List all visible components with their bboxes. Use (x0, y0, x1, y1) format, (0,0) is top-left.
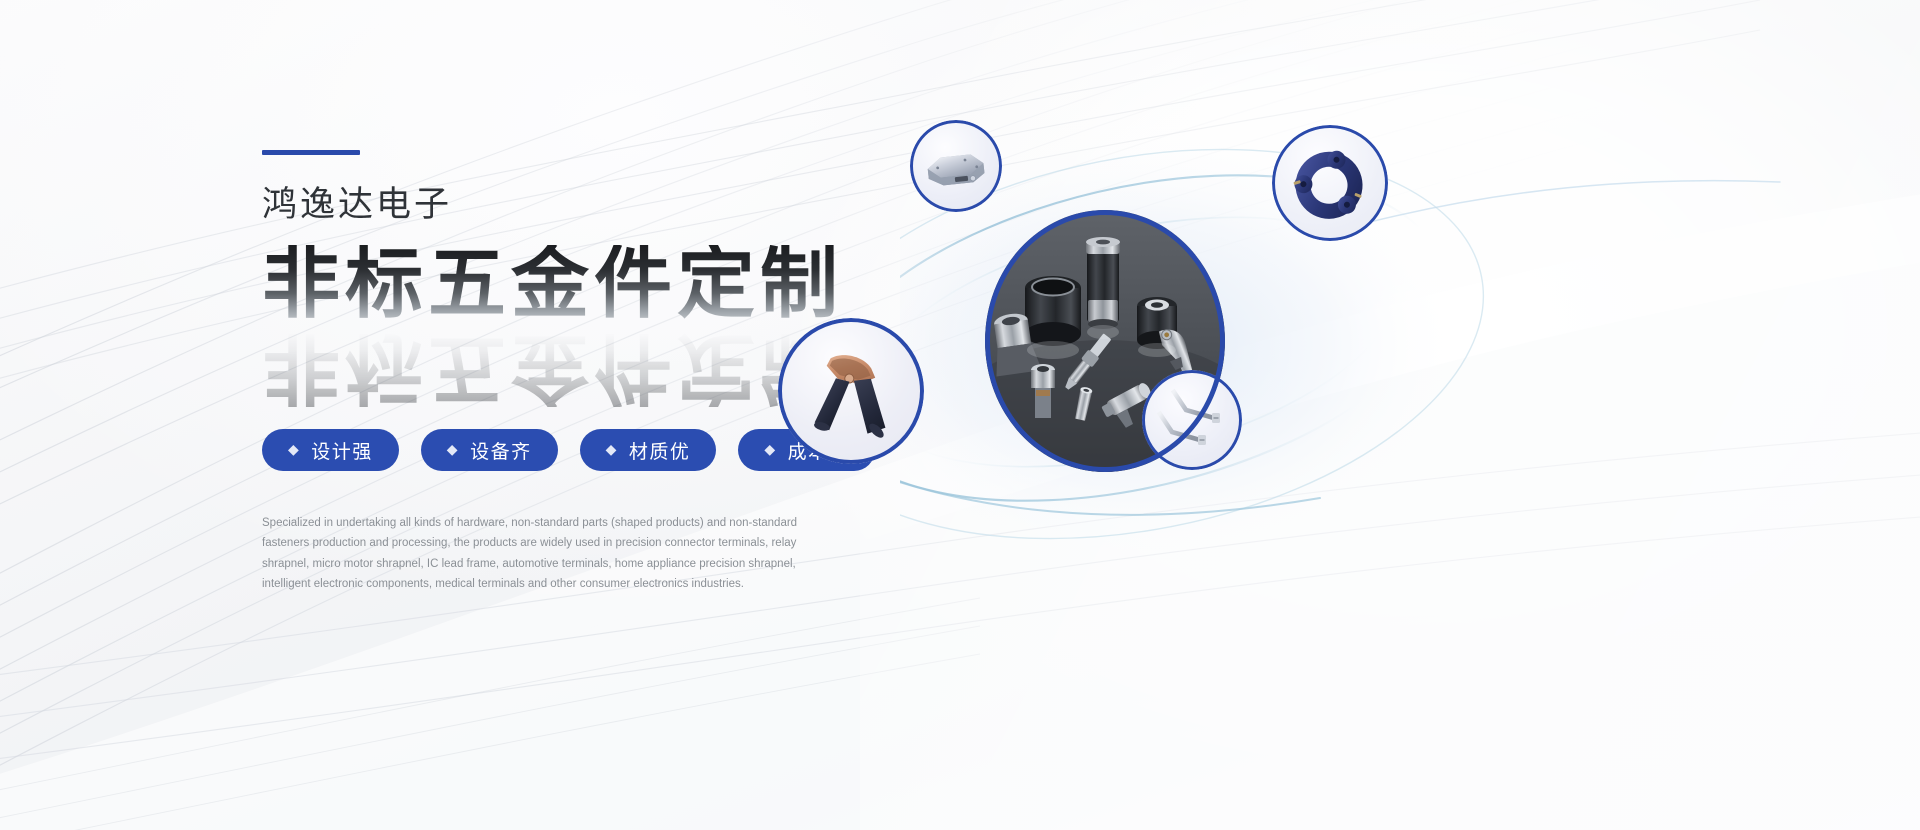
feature-pill-label: 设备齐 (470, 437, 532, 464)
retaining-clip-photo (1272, 125, 1388, 241)
diamond-icon: ◆ (764, 443, 776, 457)
headline-reflection: 非标五金件定制 (262, 329, 843, 407)
feature-pill-label: 设计强 (311, 437, 373, 464)
diamond-icon: ◆ (606, 443, 618, 457)
retaining-clip-illustration (1272, 125, 1388, 241)
battery-clamp-illustration (778, 318, 924, 464)
shield-box-illustration (910, 120, 1002, 212)
feature-pill-equipment[interactable]: ◆ 设备齐 (421, 429, 558, 471)
diamond-icon: ◆ (288, 443, 300, 457)
page-title: 非标五金件定制 (262, 245, 962, 323)
feature-pill-material[interactable]: ◆ 材质优 (580, 429, 717, 471)
description-paragraph: Specialized in undertaking all kinds of … (262, 513, 827, 595)
diamond-icon: ◆ (447, 443, 459, 457)
battery-clamp-photo (778, 318, 924, 464)
brand-name: 鸿逸达电子 (262, 188, 962, 223)
accent-rule (262, 150, 360, 155)
product-visual (900, 130, 1920, 650)
bent-terminal-pins-photo (1142, 370, 1242, 470)
bent-terminal-pins-illustration (1142, 370, 1242, 470)
hero-banner: 鸿逸达电子 非标五金件定制 非标五金件定制 ◆ 设计强 ◆ 设备齐 ◆ 材质优 … (0, 0, 1920, 830)
feature-pill-label: 材质优 (629, 437, 691, 464)
shield-box-photo (910, 120, 1002, 212)
feature-pill-design[interactable]: ◆ 设计强 (262, 429, 399, 471)
